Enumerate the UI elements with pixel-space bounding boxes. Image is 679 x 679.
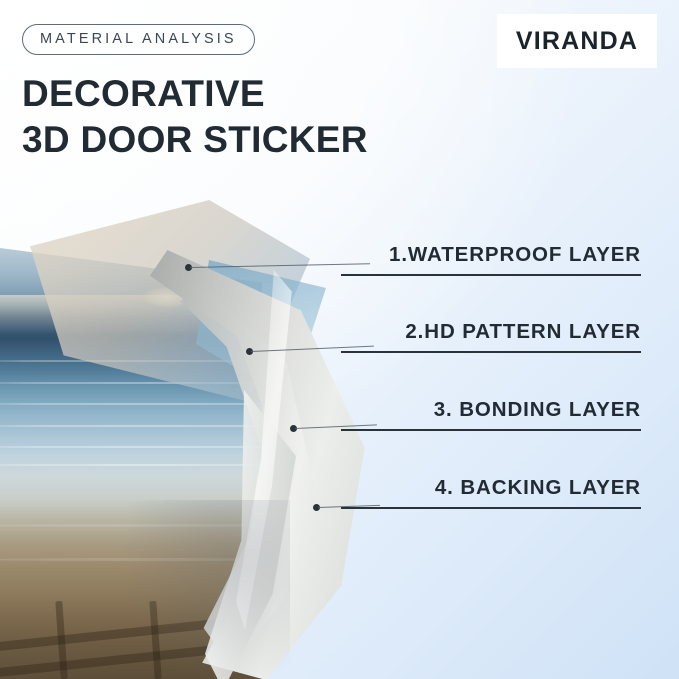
wave-line — [0, 446, 262, 448]
callout-label-waterproof-layer: 1.WATERPROOF LAYER — [341, 243, 641, 276]
wave-line — [0, 403, 262, 405]
wave-line — [0, 425, 262, 427]
page-title-line-1: DECORATIVE — [22, 73, 265, 115]
page-title-line-2: 3D DOOR STICKER — [22, 119, 368, 161]
callout-label-hd-pattern-layer: 2.HD PATTERN LAYER — [341, 320, 641, 353]
callout-label-backing-layer: 4. BACKING LAYER — [341, 476, 641, 509]
curl-shadow — [120, 500, 290, 679]
callout-label-bonding-layer: 3. BONDING LAYER — [341, 398, 641, 431]
poster-canvas: MATERIAL ANALYSIS DECORATIVE 3D DOOR STI… — [0, 0, 679, 679]
wave-line — [0, 464, 262, 466]
brand-logo-box: VIRANDA — [497, 14, 657, 68]
brand-name: VIRANDA — [516, 27, 638, 56]
eyebrow-badge: MATERIAL ANALYSIS — [22, 24, 255, 55]
